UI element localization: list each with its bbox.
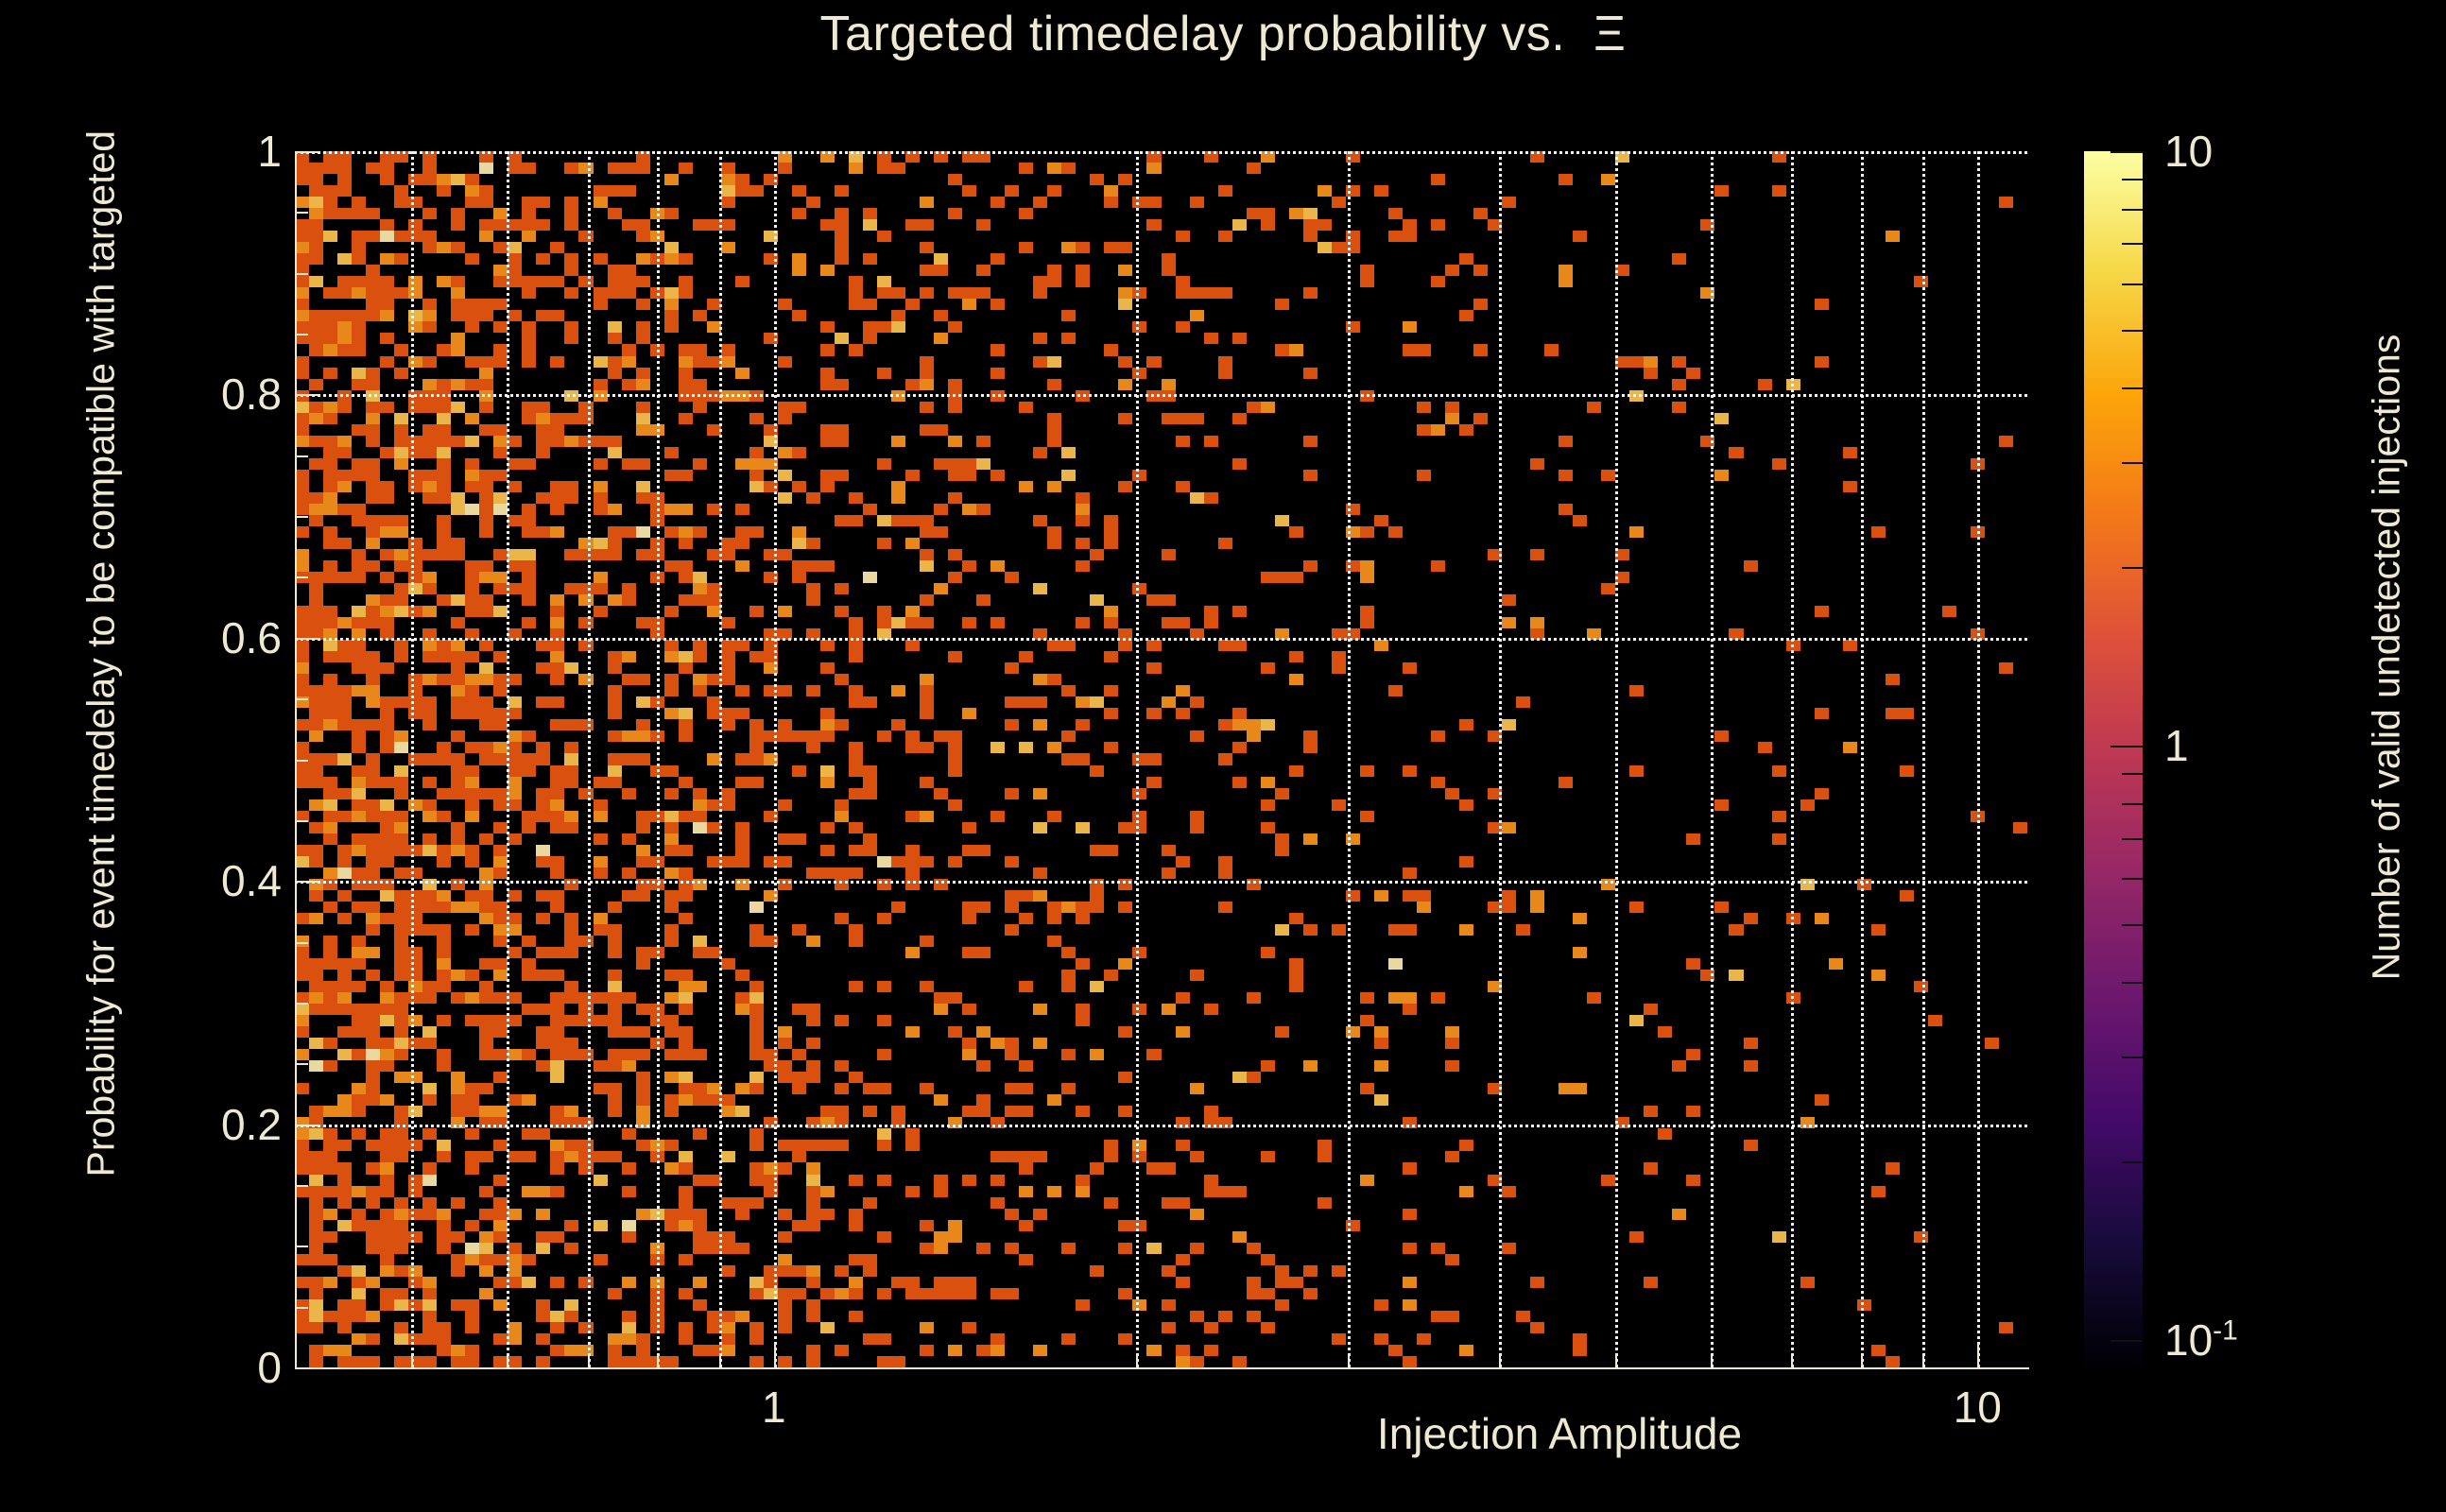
heatmap-cell	[622, 868, 636, 879]
heatmap-cell	[380, 492, 394, 504]
heatmap-cell	[806, 1299, 820, 1311]
heatmap-cell	[1019, 1151, 1033, 1162]
heatmap-cell	[309, 1356, 323, 1367]
heatmap-cell	[408, 1231, 422, 1243]
heatmap-cell	[806, 538, 820, 549]
heatmap-cell	[366, 1186, 380, 1197]
heatmap-cell	[693, 1175, 707, 1186]
heatmap-cell	[479, 1038, 493, 1049]
heatmap-cell	[309, 1128, 323, 1140]
heatmap-cell	[352, 572, 366, 583]
x-tick-minor	[1922, 1354, 1924, 1367]
heatmap-cell	[806, 685, 820, 696]
heatmap-cell	[479, 185, 493, 197]
heatmap-cell	[594, 253, 608, 265]
heatmap-cell	[1502, 197, 1516, 208]
heatmap-cell	[1431, 777, 1445, 788]
heatmap-cell	[679, 276, 693, 287]
heatmap-cell	[1374, 640, 1388, 651]
heatmap-cell	[1601, 1175, 1615, 1186]
heatmap-cell	[295, 1322, 309, 1333]
heatmap-cell	[1090, 765, 1104, 777]
heatmap-cell	[479, 1151, 493, 1162]
heatmap-cell	[479, 310, 493, 321]
heatmap-cell	[394, 344, 408, 356]
heatmap-cell	[323, 163, 337, 174]
heatmap-cell	[990, 1345, 1005, 1356]
heatmap-cell	[1417, 424, 1431, 436]
heatmap-cell	[594, 185, 608, 197]
heatmap-cell	[352, 458, 366, 470]
heatmap-cell	[1019, 208, 1033, 219]
heatmap-cell	[366, 617, 380, 628]
heatmap-cell	[636, 526, 650, 538]
heatmap-cell	[550, 1015, 564, 1026]
heatmap-cell	[352, 1094, 366, 1106]
heatmap-cell	[1559, 777, 1573, 788]
heatmap-cell	[1744, 1060, 1758, 1072]
heatmap-cell	[366, 811, 380, 822]
heatmap-cell	[493, 219, 508, 231]
heatmap-cell	[394, 447, 408, 458]
heatmap-cell	[806, 742, 820, 753]
colorbar-tick	[2122, 1057, 2143, 1058]
heatmap-cell	[1459, 1345, 1473, 1356]
heatmap-cell	[422, 1322, 437, 1333]
heatmap-cell	[309, 958, 323, 970]
heatmap-cell	[1118, 413, 1132, 424]
heatmap-cell	[1332, 1265, 1346, 1277]
heatmap-cell	[1247, 1277, 1261, 1288]
heatmap-cell	[309, 1038, 323, 1049]
heatmap-cell	[323, 447, 337, 458]
heatmap-cell	[679, 379, 693, 390]
heatmap-cell	[622, 1322, 636, 1333]
heatmap-cell	[479, 526, 493, 538]
heatmap-cell	[408, 538, 422, 549]
heatmap-cell	[1928, 1015, 1942, 1026]
heatmap-cell	[1218, 538, 1232, 549]
heatmap-cell	[820, 379, 835, 390]
heatmap-cell	[1403, 992, 1417, 1004]
heatmap-cell	[877, 1140, 891, 1151]
heatmap-cell	[721, 856, 735, 868]
heatmap-cell	[493, 265, 508, 276]
heatmap-cell	[295, 287, 309, 299]
heatmap-cell	[522, 163, 536, 174]
y-tick-major	[295, 881, 319, 883]
x-tick-minor	[588, 1354, 590, 1367]
heatmap-cell	[1459, 1186, 1473, 1197]
heatmap-cell	[508, 265, 522, 276]
heatmap-cell	[792, 765, 806, 777]
heatmap-cell	[479, 606, 493, 617]
heatmap-cell	[550, 1038, 564, 1049]
heatmap-cell	[550, 504, 564, 515]
heatmap-cell	[749, 742, 764, 753]
heatmap-cell	[1502, 594, 1516, 606]
heatmap-cell	[352, 1128, 366, 1140]
heatmap-cell	[366, 1060, 380, 1072]
heatmap-cell	[636, 1094, 650, 1106]
heatmap-cell	[693, 1277, 707, 1288]
heatmap-cell	[295, 1299, 309, 1311]
heatmap-cell	[1417, 890, 1431, 902]
heatmap-cell	[1871, 1345, 1886, 1356]
heatmap-cell	[835, 868, 849, 879]
heatmap-cell	[451, 617, 465, 628]
heatmap-cell	[380, 1186, 394, 1197]
heatmap-cell	[721, 1151, 735, 1162]
heatmap-cell	[905, 1140, 920, 1151]
heatmap-cell	[1104, 1151, 1118, 1162]
heatmap-cell	[1772, 458, 1786, 470]
heatmap-cell	[309, 1060, 323, 1072]
heatmap-cell	[1318, 185, 1332, 197]
heatmap-cell	[352, 197, 366, 208]
heatmap-cell	[749, 902, 764, 913]
heatmap-cell	[1388, 924, 1403, 936]
heatmap-cell	[891, 481, 905, 492]
heatmap-cell	[792, 1072, 806, 1083]
heatmap-cell	[1146, 708, 1162, 719]
heatmap-cell	[394, 287, 408, 299]
heatmap-cell	[1061, 242, 1076, 253]
heatmap-cell	[962, 504, 976, 515]
heatmap-cell	[1772, 185, 1786, 197]
heatmap-cell	[920, 1322, 934, 1333]
heatmap-cell	[465, 799, 479, 811]
heatmap-cell	[594, 924, 608, 936]
heatmap-cell	[408, 321, 422, 333]
heatmap-cell	[394, 651, 408, 662]
grid-line-vertical	[1711, 151, 1714, 1367]
heatmap-cell	[1261, 662, 1275, 674]
heatmap-cell	[1686, 958, 1700, 970]
heatmap-cell	[1232, 219, 1247, 231]
colorbar-gradient	[2084, 151, 2143, 1367]
heatmap-cell	[1162, 1162, 1176, 1175]
heatmap-cell	[1176, 1026, 1190, 1038]
heatmap-cell	[1118, 242, 1132, 253]
heatmap-cell	[636, 379, 650, 390]
heatmap-cell	[877, 1049, 891, 1060]
heatmap-cell	[778, 1060, 792, 1072]
heatmap-cell	[1815, 788, 1829, 799]
heatmap-cell	[1162, 594, 1176, 606]
heatmap-cell	[1686, 1175, 1700, 1186]
heatmap-cell	[778, 447, 792, 458]
y-tick-minor	[295, 1063, 308, 1065]
heatmap-cell	[1132, 788, 1146, 799]
heatmap-cell	[1289, 970, 1303, 981]
heatmap-cell	[422, 992, 437, 1004]
heatmap-cell	[1076, 1004, 1090, 1015]
heatmap-cell	[352, 379, 366, 390]
heatmap-cell	[479, 1026, 493, 1038]
heatmap-cell	[735, 822, 749, 833]
heatmap-cell	[679, 560, 693, 572]
heatmap-cell	[1146, 219, 1162, 231]
heatmap-cell	[1360, 276, 1374, 287]
heatmap-cell	[408, 1277, 422, 1288]
heatmap-cell	[679, 708, 693, 719]
heatmap-cell	[451, 549, 465, 560]
heatmap-cell	[337, 1220, 352, 1231]
heatmap-cell	[479, 504, 493, 515]
heatmap-cell	[1360, 1083, 1374, 1094]
heatmap-cell	[451, 1356, 465, 1367]
heatmap-cell	[806, 1162, 820, 1175]
heatmap-cell	[693, 1345, 707, 1356]
heatmap-cell	[1714, 799, 1729, 811]
heatmap-cell	[479, 594, 493, 606]
heatmap-cell	[1232, 606, 1247, 617]
heatmap-cell	[905, 470, 920, 481]
heatmap-cell	[422, 696, 437, 708]
heatmap-cell	[664, 470, 679, 481]
heatmap-cell	[1132, 1151, 1146, 1162]
colorbar-title: Number of valid undetected injections	[2365, 138, 2409, 1177]
heatmap-cell	[309, 696, 323, 708]
heatmap-cell	[1658, 1128, 1672, 1140]
heatmap-cell	[493, 708, 508, 719]
heatmap-cell	[849, 753, 863, 765]
heatmap-cell	[550, 356, 564, 368]
heatmap-cell	[1644, 356, 1658, 368]
heatmap-cell	[465, 811, 479, 822]
heatmap-cell	[550, 1151, 564, 1162]
heatmap-cell	[465, 185, 479, 197]
heatmap-cell	[408, 1186, 422, 1197]
heatmap-cell	[1388, 231, 1403, 242]
heatmap-cell	[522, 730, 536, 742]
heatmap-cell	[1047, 276, 1061, 287]
heatmap-cell	[295, 1186, 309, 1197]
heatmap-cell	[1403, 1299, 1417, 1311]
heatmap-cell	[295, 1162, 309, 1175]
heatmap-cell	[394, 1265, 408, 1277]
heatmap-cell	[905, 1277, 920, 1288]
heatmap-cell	[594, 1151, 608, 1162]
heatmap-cell	[309, 617, 323, 628]
heatmap-cell	[990, 470, 1005, 481]
heatmap-cell	[721, 788, 735, 799]
heatmap-cell	[877, 1231, 891, 1243]
colorbar-tick-label: 10	[2164, 126, 2213, 177]
heatmap-cell	[877, 617, 891, 628]
heatmap-cell	[437, 981, 451, 992]
heatmap-cell	[679, 1162, 693, 1175]
heatmap-cell	[295, 1254, 309, 1265]
heatmap-cell	[905, 299, 920, 310]
heatmap-cell	[366, 1083, 380, 1094]
heatmap-cell	[1190, 730, 1204, 742]
heatmap-cell	[679, 344, 693, 356]
heatmap-cell	[1914, 981, 1928, 992]
heatmap-cell	[295, 765, 309, 777]
heatmap-cell	[508, 1254, 522, 1265]
heatmap-cell	[352, 231, 366, 242]
heatmap-cell	[323, 981, 337, 992]
heatmap-cell	[536, 753, 550, 765]
heatmap-cell	[1388, 208, 1403, 219]
heatmap-cell	[422, 208, 437, 219]
heatmap-cell	[366, 560, 380, 572]
heatmap-cell	[323, 958, 337, 970]
heatmap-cell	[1573, 1083, 1587, 1094]
heatmap-cell	[366, 696, 380, 708]
heatmap-cell	[679, 287, 693, 299]
heatmap-cell	[465, 356, 479, 368]
heatmap-cell	[693, 344, 707, 356]
heatmap-cell	[550, 276, 564, 287]
heatmap-cell	[749, 1162, 764, 1175]
heatmap-cell	[863, 321, 877, 333]
heatmap-cell	[1772, 811, 1786, 822]
heatmap-cell	[905, 219, 920, 231]
heatmap-cell	[735, 185, 749, 197]
heatmap-cell	[778, 730, 792, 742]
heatmap-cell	[493, 344, 508, 356]
heatmap-cell	[408, 902, 422, 913]
heatmap-cell	[948, 470, 962, 481]
heatmap-cell	[1247, 1243, 1261, 1254]
heatmap-cell	[806, 560, 820, 572]
heatmap-cell	[295, 947, 309, 958]
heatmap-cell	[295, 1049, 309, 1060]
heatmap-cell	[1076, 242, 1090, 253]
heatmap-cell	[323, 231, 337, 242]
heatmap-cell	[1090, 594, 1104, 606]
heatmap-cell	[948, 1220, 962, 1231]
heatmap-cell	[1261, 822, 1275, 833]
heatmap-cell	[622, 287, 636, 299]
heatmap-cell	[1162, 413, 1176, 424]
heatmap-cell	[891, 163, 905, 174]
heatmap-cell	[465, 458, 479, 470]
heatmap-cell	[493, 1220, 508, 1231]
heatmap-cell	[508, 890, 522, 902]
heatmap-cell	[508, 696, 522, 708]
heatmap-cell	[295, 640, 309, 651]
heatmap-cell	[408, 924, 422, 936]
heatmap-cell	[962, 470, 976, 481]
heatmap-cell	[366, 1004, 380, 1015]
heatmap-cell	[1132, 321, 1146, 333]
heatmap-cell	[295, 197, 309, 208]
heatmap-cell	[508, 947, 522, 958]
heatmap-cell	[422, 379, 437, 390]
heatmap-cell	[749, 1356, 764, 1367]
heatmap-cell	[976, 947, 990, 958]
heatmap-cell	[408, 583, 422, 594]
heatmap-cell	[863, 333, 877, 344]
heatmap-cell	[792, 1220, 806, 1231]
heatmap-cell	[749, 1015, 764, 1026]
heatmap-cell	[1360, 1015, 1374, 1026]
heatmap-cell	[422, 572, 437, 583]
heatmap-cell	[578, 1322, 594, 1333]
heatmap-cell	[437, 753, 451, 765]
heatmap-cell	[536, 197, 550, 208]
heatmap-cell	[594, 799, 608, 811]
heatmap-cell	[465, 436, 479, 447]
heatmap-cell	[422, 640, 437, 651]
heatmap-cell	[1104, 617, 1118, 628]
heatmap-cell	[1176, 992, 1190, 1004]
heatmap-cell	[352, 1186, 366, 1197]
heatmap-cell	[394, 765, 408, 777]
heatmap-cell	[337, 913, 352, 924]
heatmap-cell	[976, 287, 990, 299]
heatmap-cell	[1729, 970, 1744, 981]
heatmap-cell	[493, 436, 508, 447]
heatmap-cell	[536, 402, 550, 413]
heatmap-cell	[820, 640, 835, 651]
heatmap-cell	[1104, 685, 1118, 696]
heatmap-cell	[778, 1299, 792, 1311]
heatmap-cell	[394, 436, 408, 447]
heatmap-cell	[849, 868, 863, 879]
heatmap-cell	[849, 163, 863, 174]
heatmap-cell	[735, 1197, 749, 1209]
heatmap-cell	[352, 845, 366, 856]
heatmap-cell	[778, 1322, 792, 1333]
heatmap-cell	[479, 696, 493, 708]
heatmap-cell	[408, 1015, 422, 1026]
heatmap-cell	[493, 822, 508, 833]
heatmap-cell	[679, 572, 693, 583]
heatmap-cell	[1232, 1186, 1247, 1197]
heatmap-cell	[792, 481, 806, 492]
heatmap-cell	[778, 163, 792, 174]
heatmap-cell	[465, 674, 479, 685]
heatmap-cell	[1090, 549, 1104, 560]
heatmap-cell	[422, 1356, 437, 1367]
heatmap-cell	[536, 1311, 550, 1322]
heatmap-cell	[1772, 833, 1786, 845]
heatmap-cell	[835, 1345, 849, 1356]
heatmap-cell	[564, 1299, 578, 1311]
heatmap-cell	[408, 197, 422, 208]
heatmap-cell	[422, 424, 437, 436]
heatmap-cell	[679, 1220, 693, 1231]
heatmap-cell	[437, 856, 451, 868]
heatmap-cell	[693, 583, 707, 594]
heatmap-cell	[1999, 436, 2013, 447]
heatmap-cell	[309, 515, 323, 526]
heatmap-cell	[380, 1004, 394, 1015]
heatmap-cell	[920, 356, 934, 368]
heatmap-cell	[479, 1243, 493, 1254]
heatmap-cell	[806, 492, 820, 504]
heatmap-cell	[309, 333, 323, 344]
heatmap-cell	[1388, 685, 1403, 696]
heatmap-cell	[594, 1060, 608, 1072]
y-tick-major	[295, 394, 319, 396]
heatmap-cell	[380, 276, 394, 287]
heatmap-cell	[536, 424, 550, 436]
heatmap-cell	[721, 640, 735, 651]
heatmap-cell	[437, 845, 451, 856]
heatmap-cell	[1275, 1277, 1289, 1288]
heatmap-cell	[309, 197, 323, 208]
heatmap-cell	[806, 868, 820, 879]
heatmap-cell	[664, 606, 679, 617]
heatmap-cell	[380, 333, 394, 344]
heatmap-cell	[366, 436, 380, 447]
